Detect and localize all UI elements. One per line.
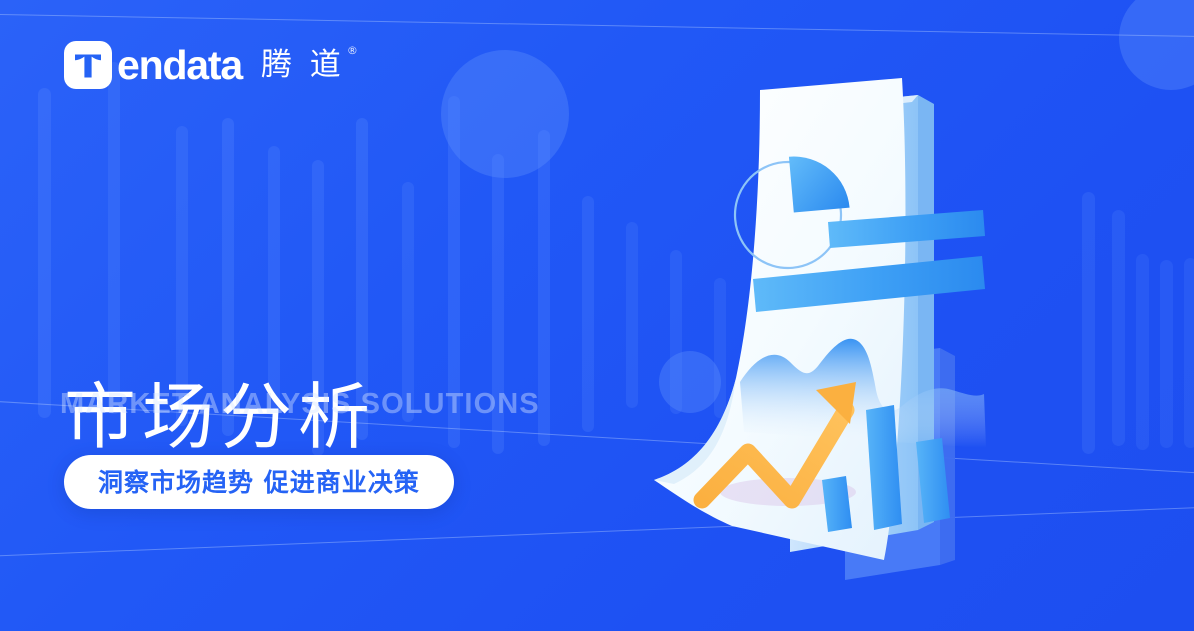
logo-chinese-text: 腾 道 <box>261 47 345 83</box>
logo-wordmark: endata <box>117 45 242 86</box>
background-bar <box>582 196 594 432</box>
background-circle-accents <box>441 50 569 178</box>
tagline-pill-button[interactable]: 洞察市场趋势 促进商业决策 <box>64 455 454 509</box>
background-bar <box>1112 210 1125 446</box>
background-bar <box>538 130 550 446</box>
logo-chinese-name: 腾 道 ® <box>261 50 345 81</box>
background-bar <box>1136 254 1149 450</box>
marketing-banner: endata 腾 道 ® 市场分析 解决方案 MARKET ANALYSIS S… <box>0 0 1194 631</box>
background-diagonal-lines <box>0 14 1194 38</box>
background-bar <box>38 88 51 418</box>
brand-logo[interactable]: endata 腾 道 ® <box>64 40 345 90</box>
subtitle-english: MARKET ANALYSIS SOLUTIONS <box>60 388 540 421</box>
registered-trademark-icon: ® <box>347 45 358 56</box>
background-circle-accents <box>1119 0 1194 90</box>
background-bar <box>1160 260 1173 448</box>
market-report-illustration <box>640 60 1110 580</box>
tagline-pill-label: 洞察市场趋势 促进商业决策 <box>98 470 420 495</box>
tendata-t-mark-icon <box>64 41 112 89</box>
background-bar <box>1184 258 1194 448</box>
background-bar <box>626 222 638 408</box>
background-bar <box>402 182 414 422</box>
